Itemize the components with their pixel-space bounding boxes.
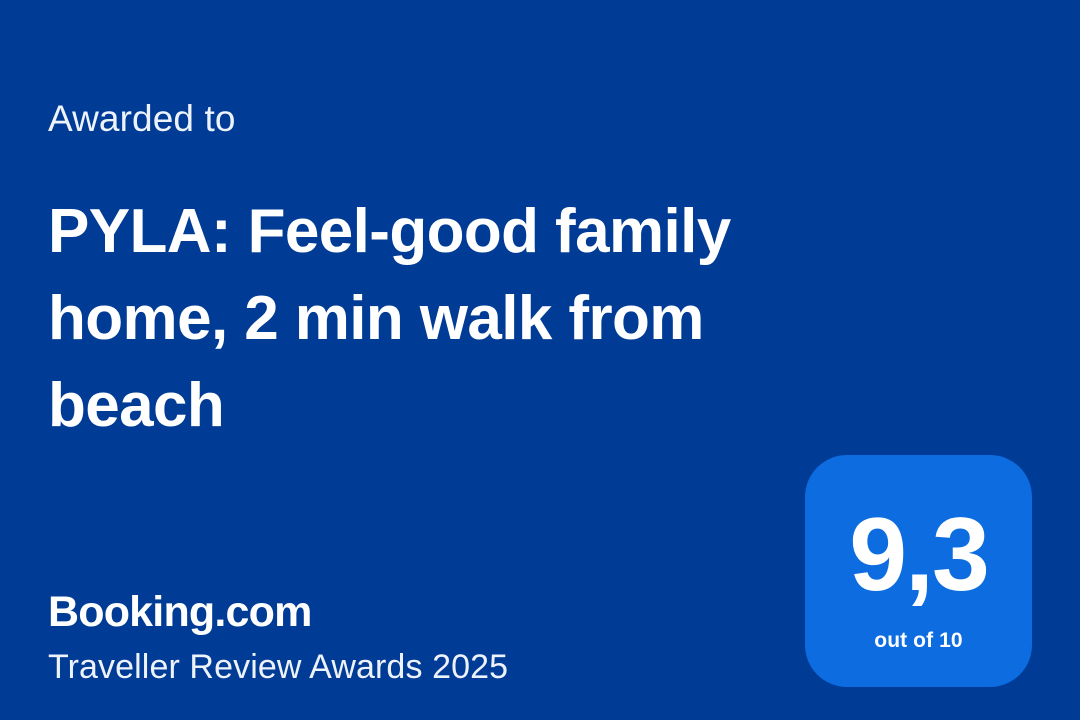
award-program-name: Traveller Review Awards 2025: [48, 646, 748, 688]
property-title-line-2: home, 2 min walk from: [48, 275, 848, 362]
award-content-column: Awarded to PYLA: Feel-good family home, …: [48, 0, 848, 720]
review-score-badge: 9,3 out of 10: [805, 455, 1032, 687]
property-title: PYLA: Feel-good family home, 2 min walk …: [48, 188, 848, 449]
brand-block: Booking.com Traveller Review Awards 2025: [48, 586, 748, 688]
review-score-scale-label: out of 10: [874, 629, 962, 653]
booking-com-logo: Booking.com: [48, 586, 748, 638]
award-card: Awarded to PYLA: Feel-good family home, …: [0, 0, 1080, 720]
review-score-value: 9,3: [849, 503, 988, 607]
awarded-to-label: Awarded to: [48, 96, 236, 142]
property-title-line-3: beach: [48, 362, 848, 449]
property-title-line-1: PYLA: Feel-good family: [48, 188, 848, 275]
